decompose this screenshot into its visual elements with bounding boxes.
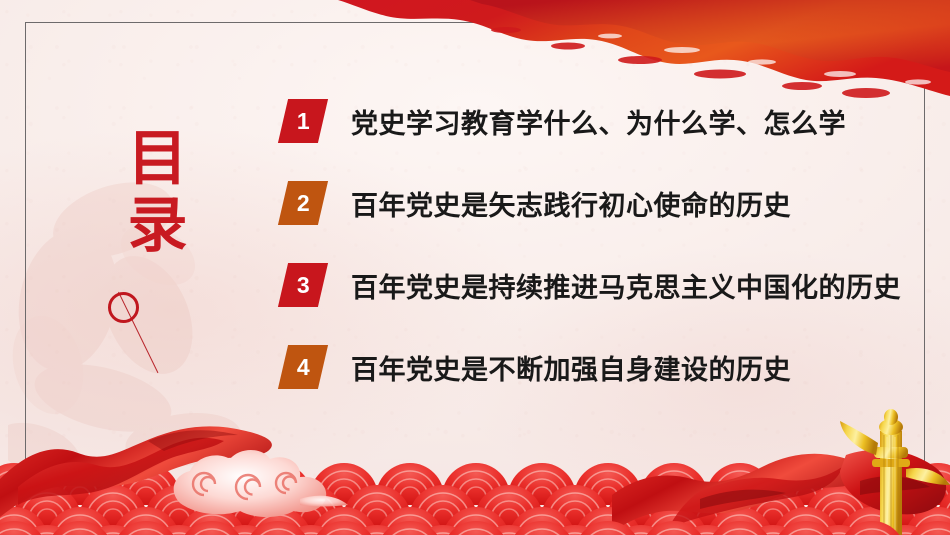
bottom-ornament xyxy=(0,395,950,535)
toc-badge-number-1: 1 xyxy=(297,110,310,133)
toc-label-4: 百年党史是不断加强自身建设的历史 xyxy=(351,348,791,387)
toc-label-2: 百年党史是矢志践行初心使命的历史 xyxy=(351,184,791,223)
toc-badge-3: 3 xyxy=(278,263,328,307)
top-brush-stroke-decoration xyxy=(310,0,950,110)
toc-badge-2: 2 xyxy=(278,181,328,225)
toc-item-2[interactable]: 2 百年党史是矢志践行初心使命的历史 xyxy=(283,181,901,225)
ribbon-left xyxy=(0,426,272,517)
toc-item-1[interactable]: 1 党史学习教育学什么、为什么学、怎么学 xyxy=(283,99,901,143)
auspicious-cloud xyxy=(174,450,348,517)
toc-label-1: 党史学习教育学什么、为什么学、怎么学 xyxy=(351,102,846,141)
toc-badge-number-4: 4 xyxy=(297,356,310,379)
title-char-2: 录 xyxy=(110,193,206,260)
toc-badge-1: 1 xyxy=(278,99,328,143)
toc-item-3[interactable]: 3 百年党史是持续推进马克思主义中国化的历史 xyxy=(283,263,901,307)
toc-list: 1 党史学习教育学什么、为什么学、怎么学 2 百年党史是矢志践行初心使命的历史 … xyxy=(283,99,901,389)
page-title: 目 录 xyxy=(110,126,206,260)
golden-pillar xyxy=(840,409,950,535)
toc-item-4[interactable]: 4 百年党史是不断加强自身建设的历史 xyxy=(283,345,901,389)
toc-badge-number-2: 2 xyxy=(297,192,310,215)
toc-badge-number-3: 3 xyxy=(297,274,310,297)
red-ring-decoration xyxy=(108,292,139,323)
slide-canvas: 目 录 1 党史学习教育学什么、为什么学、怎么学 2 百年党史是矢志践行初心使命… xyxy=(0,0,950,535)
ribbon-right xyxy=(612,450,946,533)
title-char-1: 目 xyxy=(110,126,206,193)
toc-badge-4: 4 xyxy=(278,345,328,389)
toc-label-3: 百年党史是持续推进马克思主义中国化的历史 xyxy=(351,266,901,305)
